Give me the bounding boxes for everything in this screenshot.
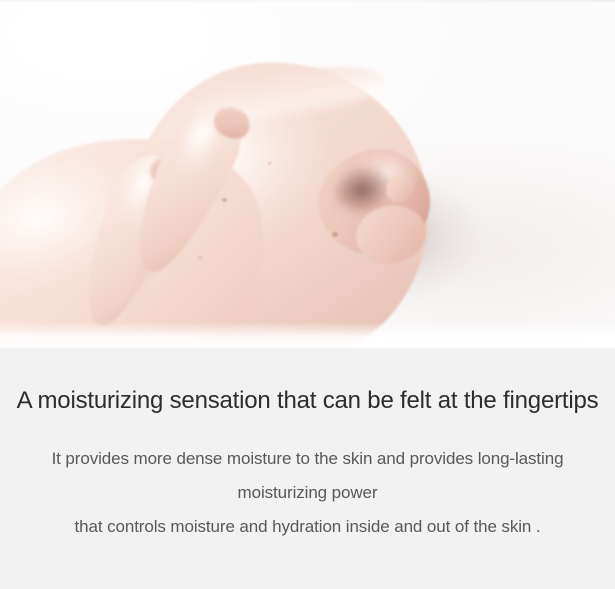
caption-block: A moisturizing sensation that can be fel… [0,348,615,589]
photo-bottom-fade [0,322,615,348]
skin-mark [268,162,271,165]
caption-headline: A moisturizing sensation that can be fel… [0,386,615,416]
caption-body: It provides more dense moisture to the s… [0,442,615,544]
skin-mark [198,256,202,259]
caption-body-line-2: moisturizing power [0,476,615,510]
skin-mark [222,198,227,202]
product-detail-section: A moisturizing sensation that can be fel… [0,0,615,589]
skin-mark [332,232,338,237]
caption-body-line-1: It provides more dense moisture to the s… [0,442,615,476]
photo-top-edge-line [0,0,615,2]
hands-moisturizing-photo [0,0,615,348]
caption-body-line-3: that controls moisture and hydration ins… [0,510,615,544]
